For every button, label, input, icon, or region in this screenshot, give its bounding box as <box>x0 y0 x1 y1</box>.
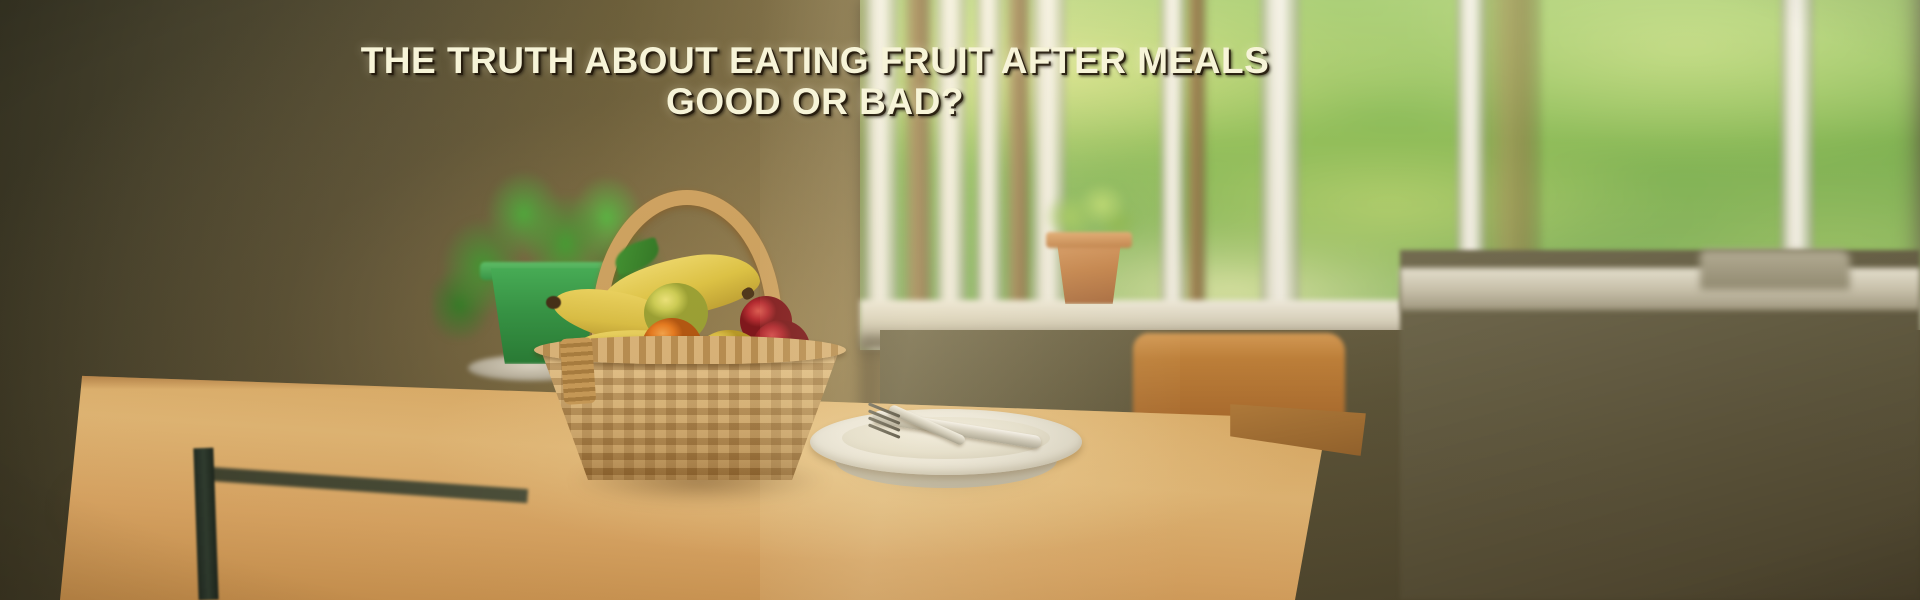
window-mullion-2 <box>936 0 966 350</box>
window-mullion-3 <box>976 0 1002 350</box>
windowsill-object <box>1700 250 1850 290</box>
basket-handle-wrap <box>560 337 597 405</box>
banana-stem <box>546 296 561 309</box>
windowsill-herb-pot-rim <box>1046 232 1132 248</box>
window-jamb-wood-1 <box>904 0 932 350</box>
window-jamb-wood-2 <box>1006 0 1030 350</box>
fork-tines <box>866 412 906 438</box>
window-mullion-5 <box>1160 0 1186 350</box>
window-jamb-wood-3 <box>1186 0 1206 350</box>
window-mullion-4 <box>1032 0 1066 350</box>
hero-banner: THE TRUTH ABOUT EATING FRUIT AFTER MEALS… <box>0 0 1920 600</box>
window-mullion-1 <box>864 0 898 350</box>
window-mullion-6 <box>1260 0 1300 350</box>
